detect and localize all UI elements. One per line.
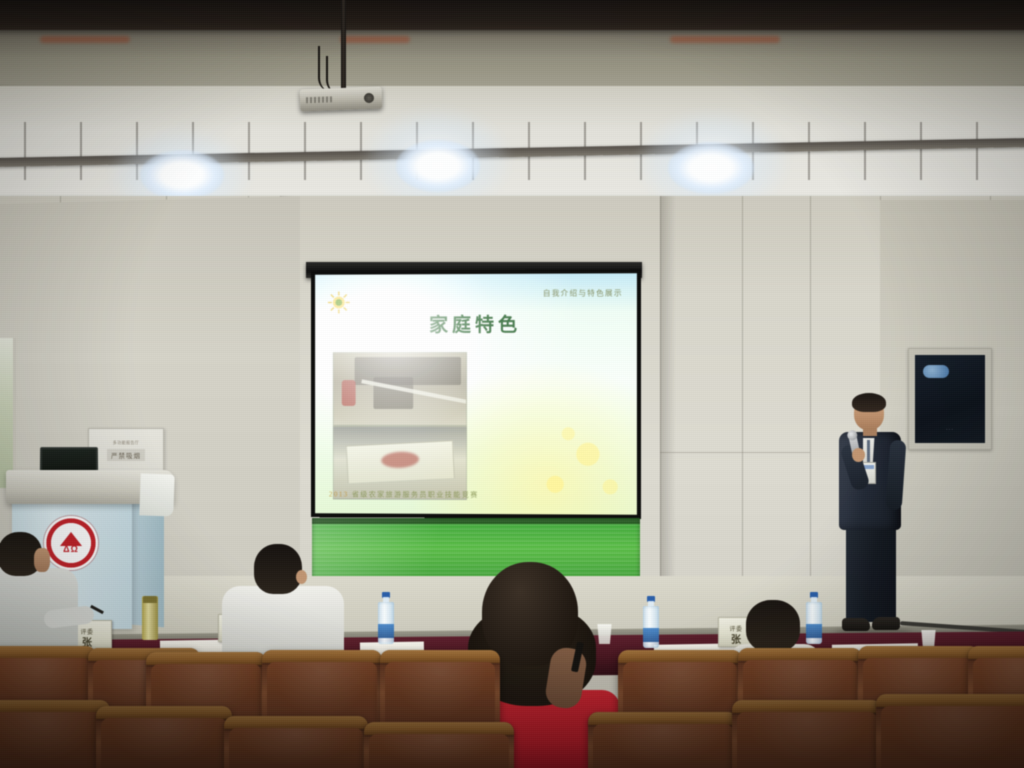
projector-lens: [364, 93, 374, 103]
presenter-hair: [852, 393, 886, 412]
display-brand-text: ···: [946, 427, 954, 433]
ceiling-light-3: [668, 142, 754, 194]
slide-bubble-decoration: [516, 400, 637, 515]
slide-footer-year: 2013: [329, 490, 349, 498]
beam-stain: [670, 36, 780, 43]
seat: [588, 712, 738, 768]
slide-title: 家庭特色: [429, 310, 521, 337]
presenter-shoe-left: [842, 618, 870, 631]
slide-header-text: 自我介绍与特色展示: [543, 287, 623, 298]
seat: [732, 700, 882, 768]
presenter-speaking: [830, 396, 910, 640]
ceiling-light-2: [396, 140, 480, 192]
banner-top-edge: [312, 518, 640, 524]
plaque-subtitle: 多功能报告厅: [113, 440, 139, 446]
beam-stain: [40, 36, 130, 43]
wall-seam-h: [660, 452, 810, 453]
lectern-white-cloth: [139, 473, 174, 516]
seat: [876, 694, 1024, 768]
water-bottle: [378, 592, 394, 644]
wall-display-frame: ···: [908, 348, 992, 450]
badge-strip: [864, 465, 874, 469]
seat: [96, 706, 232, 768]
presenter-hand: [852, 448, 865, 462]
water-bottle: [643, 596, 659, 648]
seat: [0, 700, 110, 768]
seat: [364, 722, 514, 768]
projector-vent: [306, 96, 332, 103]
left-window: [0, 338, 16, 488]
audience-white-shirt: [222, 544, 344, 660]
beam-stain: [340, 36, 410, 43]
display-brand-badge: [923, 365, 949, 378]
projection-screen-frame: 自我介绍与特色展示 家庭特色 2013 省级农家旅游服务员职业技能竞赛: [311, 269, 641, 519]
slide-photo-crowd: [333, 352, 467, 426]
plaque-title: 严禁吸烟: [107, 449, 145, 461]
wall-display-panel: ···: [915, 355, 985, 443]
presenter-trousers: [846, 524, 896, 622]
seat: [380, 650, 500, 728]
auditorium-photo-scene: 多功能报告厅 严禁吸烟 ···: [0, 0, 1024, 768]
tea-jar: [142, 596, 158, 640]
ceiling-projector: [300, 87, 383, 112]
jar-lid: [143, 596, 157, 603]
sun-icon: [327, 291, 351, 315]
presenter-arm-right: [886, 440, 907, 511]
presenter-shoe-right: [872, 617, 900, 630]
projection-screen: 自我介绍与特色展示 家庭特色 2013 省级农家旅游服务员职业技能竞赛: [315, 273, 637, 515]
presenter-lanyard: [867, 440, 870, 464]
seat: [224, 716, 368, 768]
slide-footer-text: 省级农家旅游服务员职业技能竞赛: [352, 491, 479, 499]
audience-left-writing: [0, 532, 84, 652]
slide-footer: 2013 省级农家旅游服务员职业技能竞赛: [329, 489, 479, 500]
ceiling-light-1: [140, 150, 224, 200]
